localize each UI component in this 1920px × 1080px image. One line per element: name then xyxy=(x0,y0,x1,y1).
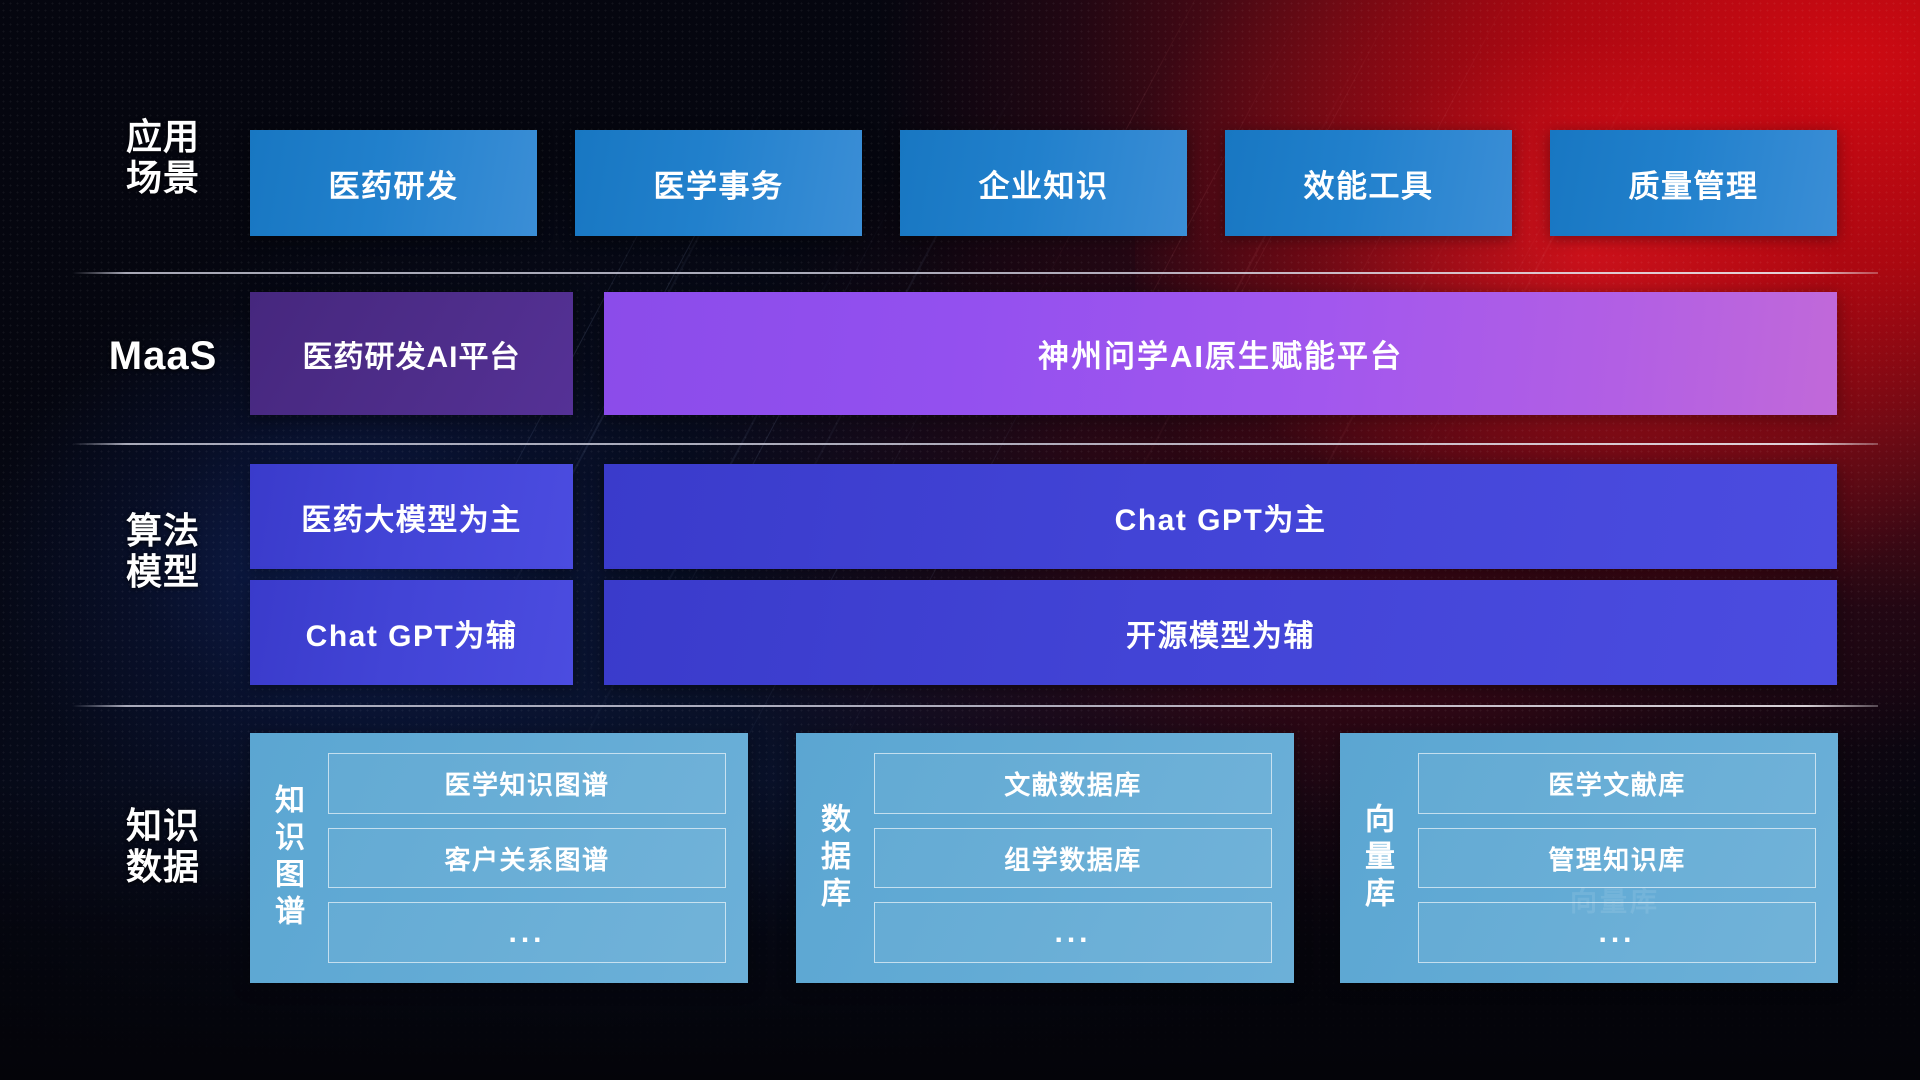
knowledge-chip-medical-graph[interactable]: 医学知识图谱 xyxy=(328,753,726,814)
maas-box-pharma-ai-platform[interactable]: 医药研发AI平台 xyxy=(250,292,573,415)
divider-2 xyxy=(72,443,1878,445)
row-label-knowledge-data: 知识 数据 xyxy=(78,805,248,887)
algo-box-pharma-large-model-primary[interactable]: 医药大模型为主 xyxy=(250,464,573,569)
algo-box-opensource-model-secondary[interactable]: 开源模型为辅 xyxy=(604,580,1837,685)
knowledge-chip-literature-database[interactable]: 文献数据库 xyxy=(874,753,1272,814)
knowledge-card-label: 知识图谱 xyxy=(250,733,322,983)
knowledge-chip-label: 文献数据库 xyxy=(1004,765,1142,802)
app-box-pharma-rd[interactable]: 医药研发 xyxy=(250,130,537,236)
algo-box-chatgpt-secondary[interactable]: Chat GPT为辅 xyxy=(250,580,573,685)
algo-box-label: 医药大模型为主 xyxy=(301,495,522,539)
app-box-label: 医学事务 xyxy=(654,161,784,206)
row-label-line: 算法 xyxy=(78,510,248,551)
app-box-medical-affairs[interactable]: 医学事务 xyxy=(575,130,862,236)
knowledge-card-database[interactable]: 数据库 文献数据库 组学数据库 ... xyxy=(796,733,1294,983)
row-label-line: 知识 xyxy=(78,805,248,846)
row-label-maas: MaaS xyxy=(78,334,248,380)
knowledge-chip-label: 医学知识图谱 xyxy=(444,765,609,802)
row-label-line: MaaS xyxy=(78,334,248,380)
app-box-label: 医药研发 xyxy=(329,161,459,206)
algo-box-label: Chat GPT为主 xyxy=(1115,495,1327,539)
knowledge-chip-label: ... xyxy=(1598,916,1635,950)
knowledge-card-label: 数据库 xyxy=(796,733,868,983)
knowledge-card-knowledge-graph[interactable]: 知识图谱 医学知识图谱 客户关系图谱 ... xyxy=(250,733,748,983)
knowledge-chip-label: 组学数据库 xyxy=(1004,840,1142,877)
knowledge-card-items: 文献数据库 组学数据库 ... xyxy=(868,733,1294,983)
app-box-enterprise-knowledge[interactable]: 企业知识 xyxy=(900,130,1187,236)
knowledge-chip-label: 管理知识库 xyxy=(1548,840,1686,877)
knowledge-card-items: 医学文献库 管理知识库 ... xyxy=(1412,733,1838,983)
knowledge-chip-customer-relation-graph[interactable]: 客户关系图谱 xyxy=(328,828,726,889)
app-box-label: 企业知识 xyxy=(979,161,1109,206)
knowledge-chip-label: 客户关系图谱 xyxy=(444,840,609,877)
divider-1 xyxy=(72,272,1878,274)
app-box-label: 效能工具 xyxy=(1304,161,1434,206)
maas-box-label: 医药研发AI平台 xyxy=(303,332,521,376)
architecture-diagram: 应用 场景 医药研发 医学事务 企业知识 效能工具 质量管理 MaaS 医药研发… xyxy=(0,0,1920,1080)
knowledge-card-vector-database[interactable]: 向量库 医学文献库 管理知识库 ... xyxy=(1340,733,1838,983)
row-label-line: 场景 xyxy=(78,157,248,198)
row-label-application-scenario: 应用 场景 xyxy=(78,116,248,198)
divider-3 xyxy=(72,705,1878,707)
knowledge-chip-medical-literature[interactable]: 医学文献库 xyxy=(1418,753,1816,814)
knowledge-card-label: 向量库 xyxy=(1340,733,1412,983)
row-label-line: 模型 xyxy=(78,551,248,592)
knowledge-chip-more[interactable]: ... xyxy=(328,902,726,963)
app-box-label: 质量管理 xyxy=(1629,161,1759,206)
app-box-quality-management[interactable]: 质量管理 xyxy=(1550,130,1837,236)
knowledge-chip-label: ... xyxy=(1054,916,1091,950)
maas-box-shenzhou-wenxue-platform[interactable]: 神州问学AI原生赋能平台 xyxy=(604,292,1837,415)
maas-box-label: 神州问学AI原生赋能平台 xyxy=(1038,331,1403,376)
knowledge-chip-more[interactable]: ... xyxy=(874,902,1272,963)
row-label-line: 应用 xyxy=(78,116,248,157)
knowledge-chip-label: ... xyxy=(508,916,545,950)
app-box-efficiency-tools[interactable]: 效能工具 xyxy=(1225,130,1512,236)
knowledge-chip-more[interactable]: ... xyxy=(1418,902,1816,963)
algo-box-label: 开源模型为辅 xyxy=(1126,611,1315,655)
row-label-algorithm-model: 算法 模型 xyxy=(78,510,248,592)
knowledge-card-items: 医学知识图谱 客户关系图谱 ... xyxy=(322,733,748,983)
algo-box-chatgpt-primary[interactable]: Chat GPT为主 xyxy=(604,464,1837,569)
knowledge-chip-management-knowledge[interactable]: 管理知识库 xyxy=(1418,828,1816,889)
knowledge-chip-label: 医学文献库 xyxy=(1548,765,1686,802)
row-label-line: 数据 xyxy=(78,846,248,887)
knowledge-chip-omics-database[interactable]: 组学数据库 xyxy=(874,828,1272,889)
algo-box-label: Chat GPT为辅 xyxy=(306,611,518,655)
